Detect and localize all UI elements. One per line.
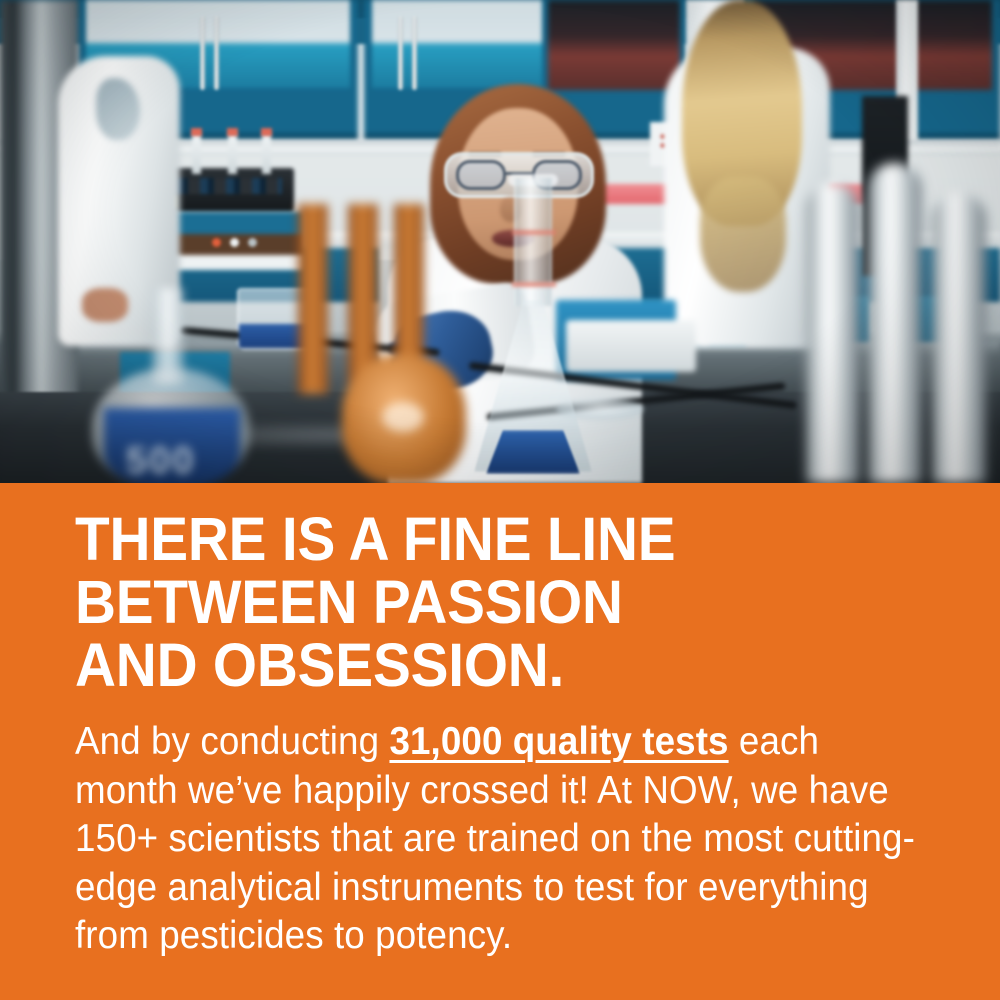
amber-column	[394, 204, 424, 372]
instrument-led-red	[212, 238, 221, 247]
cabinet-handle-left-2	[214, 16, 219, 90]
flask-graduation-mark	[512, 282, 556, 287]
headline-line-3: AND OBSESSION.	[75, 634, 912, 697]
cabinet-handle-left	[200, 16, 205, 90]
laboratory-photo: 500	[0, 0, 1000, 483]
marketing-graphic: 500 THERE IS A FINE LINE BETWEEN PASSION…	[0, 0, 1000, 1000]
instrument-dial	[248, 238, 257, 247]
flask-volume-label: 500	[126, 440, 195, 483]
colleague-right-hair-lower	[700, 176, 786, 292]
foreground-volumetric-flask: 500	[86, 288, 256, 483]
page-title: THERE IS A FINE LINE BETWEEN PASSION AND…	[75, 508, 912, 697]
test-tube	[228, 134, 237, 174]
foreground-right-glassware	[806, 150, 1000, 483]
test-tube-cap	[191, 128, 202, 136]
headline-line-2: BETWEEN PASSION	[75, 571, 912, 634]
headline-line-1: THERE IS A FINE LINE	[75, 508, 912, 571]
foreground-amber-glassware	[290, 204, 466, 483]
test-tube-cap	[227, 128, 238, 136]
glass-cylinder	[806, 183, 860, 483]
test-tube	[192, 134, 201, 174]
amber-flask-highlight	[382, 402, 424, 432]
glass-cylinder	[932, 193, 986, 483]
body-paragraph: And by conducting 31,000 quality tests e…	[75, 718, 915, 961]
quality-tests-highlight: 31,000 quality tests	[389, 720, 728, 763]
test-tube	[262, 134, 271, 174]
glass-cylinder	[868, 163, 922, 483]
erlenmeyer-flask-center	[468, 178, 598, 483]
flask-graduation-mark	[512, 230, 556, 235]
test-tube-cap	[261, 128, 272, 136]
amber-column	[298, 204, 328, 394]
instrument-led-white	[230, 238, 239, 247]
body-text-before-highlight: And by conducting	[75, 720, 389, 763]
